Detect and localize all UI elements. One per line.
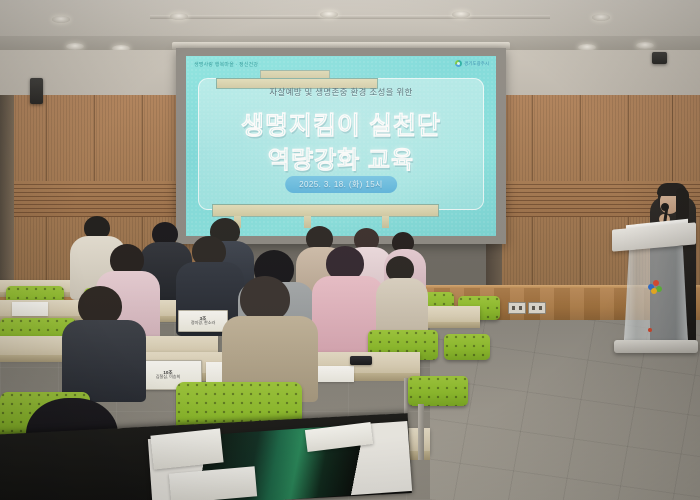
chair <box>444 334 490 360</box>
wall-corner-left <box>0 95 14 295</box>
presentation-slide: 생명사랑 행복마을 · 정신건강 경기도광주시 자살예방 및 생명존중 환경 조… <box>186 56 496 236</box>
g-circle-logo-icon <box>455 60 462 67</box>
chair <box>408 376 468 406</box>
table-placard: 3조 정미경, 한소라 <box>178 310 228 332</box>
downlight-icon <box>320 11 338 18</box>
multicolor-dot-logo-icon <box>648 280 662 294</box>
slide-right-logo-text: 경기도광주시 <box>464 61 489 67</box>
slide-bench-leg <box>304 216 311 228</box>
handout <box>150 428 223 469</box>
seminar-room-photo: 생명사랑 행복마을 · 정신건강 경기도광주시 자살예방 및 생명존중 환경 조… <box>0 0 700 500</box>
downlight-icon <box>66 43 84 50</box>
table-leg <box>418 404 424 460</box>
downlight-icon <box>636 42 654 49</box>
slide-bench-leg <box>382 216 389 228</box>
slide-left-logo-text: 생명사랑 행복마을 · 정신건강 <box>194 61 258 68</box>
handout <box>12 302 48 316</box>
placard-names: 정미경, 한소라 <box>191 321 215 325</box>
podium-base <box>614 340 698 353</box>
wall-speaker-icon <box>30 78 43 104</box>
slide-subtitle: 자살예방 및 생명존중 환경 조성을 위한 <box>186 86 496 98</box>
downlight-icon <box>52 16 70 23</box>
slide-right-logo: 경기도광주시 <box>455 60 489 67</box>
podium <box>624 246 688 344</box>
wall-outlet-icon <box>508 302 526 314</box>
slide-bench-graphic <box>212 204 439 217</box>
slide-title-line2: 역량강화 교육 <box>186 140 496 175</box>
projector-screen-rail <box>150 15 550 19</box>
slide-date-badge: 2025. 3. 18. (화) 15시 <box>285 176 397 193</box>
downlight-icon <box>452 11 470 18</box>
placard-names: 김철심, 이승희 <box>156 375 180 379</box>
downlight-icon <box>592 14 610 21</box>
slide-title-line1: 생명지킴이 실천단 <box>186 106 496 142</box>
handout <box>314 366 354 382</box>
wall-slat-band <box>0 181 196 217</box>
wall-outlet-icon <box>528 302 546 314</box>
podium-accent-dot <box>648 328 652 332</box>
wall-speaker-icon <box>652 52 667 64</box>
smartphone <box>350 356 372 365</box>
downlight-icon <box>170 13 188 20</box>
